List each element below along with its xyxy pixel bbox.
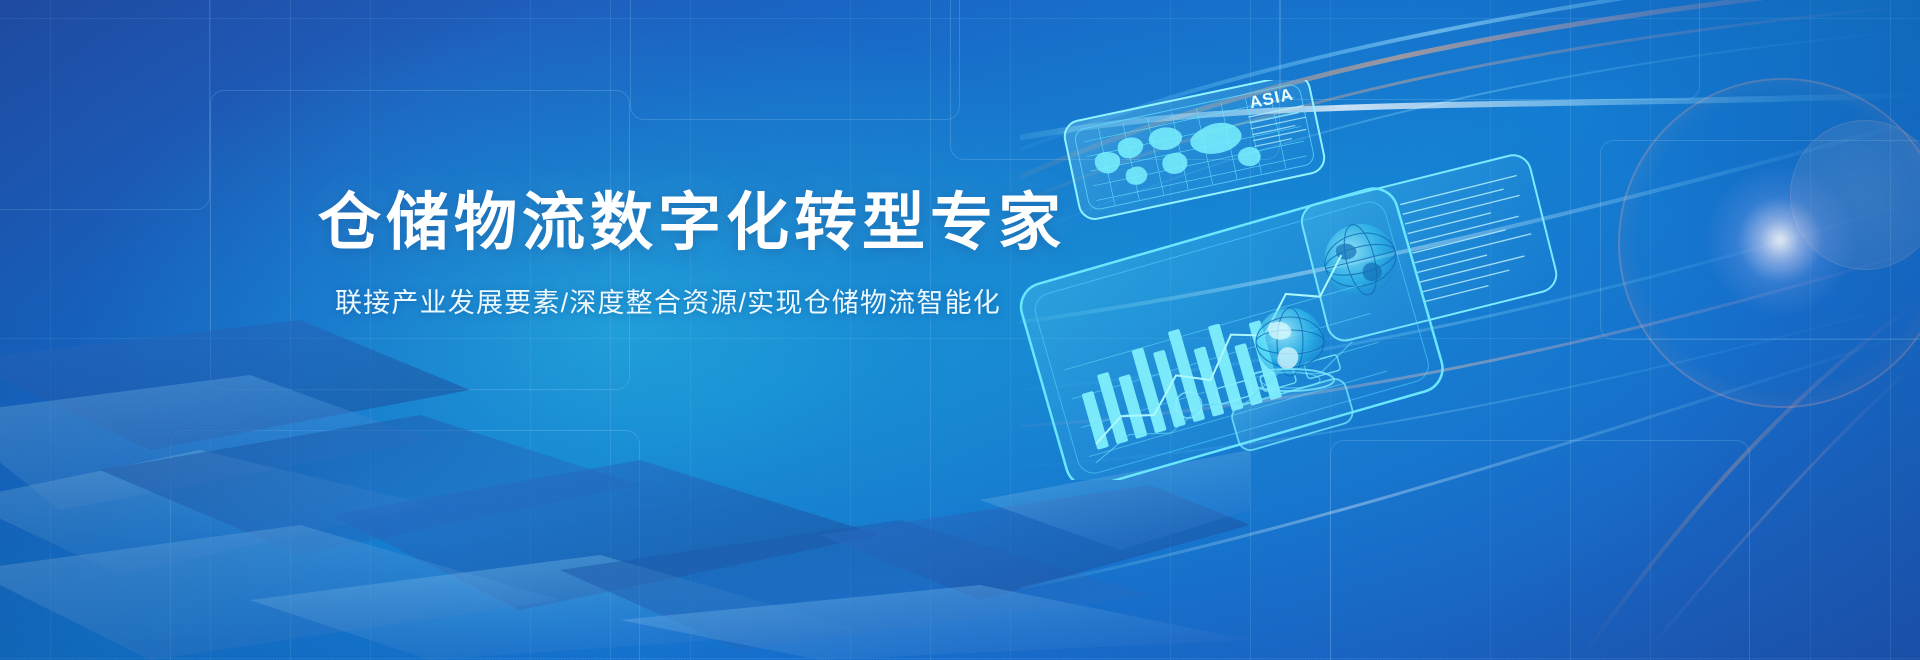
banner-copy: 仓储物流数字化转型专家 联接产业发展要素/深度整合资源/实现仓储物流智能化 (318, 188, 1018, 320)
hero-banner: ASIA (0, 0, 1920, 660)
grain-overlay (0, 0, 1920, 660)
banner-headline: 仓储物流数字化转型专家 (318, 188, 1018, 259)
banner-subheadline: 联接产业发展要素/深度整合资源/实现仓储物流智能化 (318, 281, 1018, 320)
